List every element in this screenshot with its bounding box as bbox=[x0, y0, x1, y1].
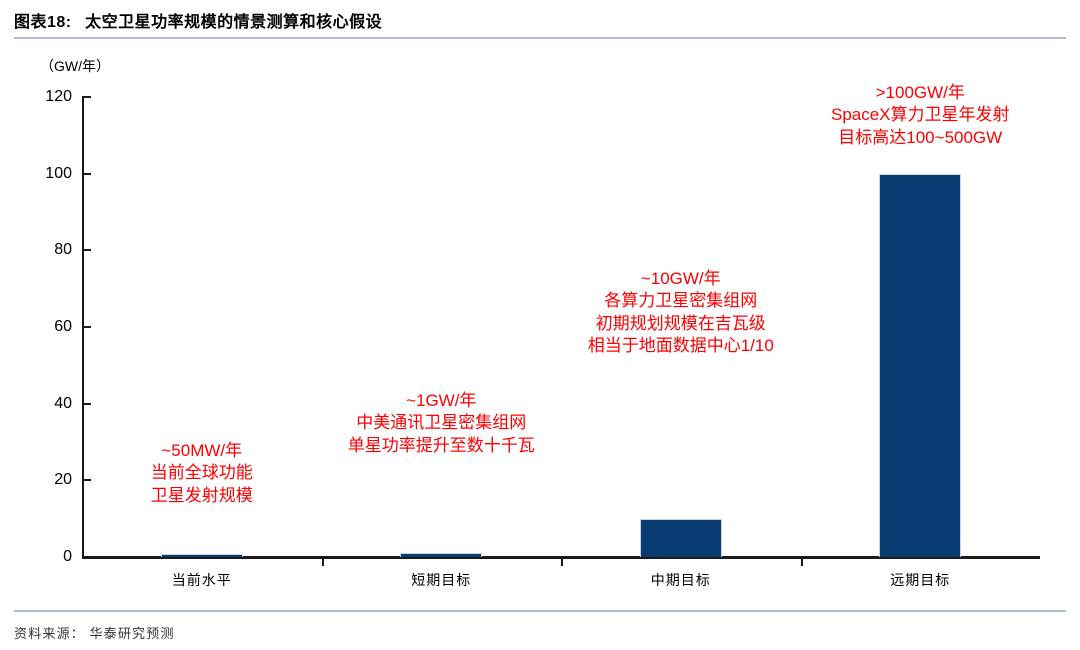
footer-divider bbox=[14, 610, 1066, 612]
annotation-短期目标: ~1GW/年中美通讯卫星密集组网单星功率提升至数十千瓦 bbox=[348, 390, 535, 457]
annotation-headline: >100GW/年 bbox=[831, 82, 1010, 104]
y-axis-tick bbox=[82, 249, 91, 251]
x-axis-category-label: 中期目标 bbox=[651, 570, 711, 590]
x-axis-category-label: 短期目标 bbox=[411, 570, 471, 590]
annotation-line: 中美通讯卫星密集组网 bbox=[348, 412, 535, 434]
source-note: 资料来源： 华泰研究预测 bbox=[14, 623, 1066, 642]
annotation-line: SpaceX算力卫星年发射 bbox=[831, 104, 1010, 126]
bar-远期目标 bbox=[879, 174, 961, 557]
x-axis-category-label: 远期目标 bbox=[890, 570, 950, 590]
annotation-headline: ~50MW/年 bbox=[151, 440, 253, 462]
bar-当前水平 bbox=[161, 554, 243, 557]
page-title: 图表18: 太空卫星功率规模的情景测算和核心假设 bbox=[14, 8, 1066, 32]
header-divider bbox=[14, 37, 1066, 39]
chart-plot-area: 020406080100120 ~50MW/年当前全球功能卫星发射规模~1GW/… bbox=[0, 0, 1080, 650]
annotation-headline: ~10GW/年 bbox=[588, 268, 774, 290]
y-axis-tick-label: 80 bbox=[0, 241, 72, 259]
annotation-line: 初期规划规模在吉瓦级 bbox=[588, 313, 774, 335]
y-axis-line bbox=[82, 97, 84, 558]
annotation-headline: ~1GW/年 bbox=[348, 390, 535, 412]
y-axis-unit-label: （GW/年） bbox=[40, 56, 110, 76]
annotation-远期目标: >100GW/年SpaceX算力卫星年发射目标高达100~500GW bbox=[831, 82, 1010, 149]
x-axis-line bbox=[82, 556, 1040, 559]
figure-number: 图表18: bbox=[14, 14, 72, 31]
y-axis-tick-label: 0 bbox=[0, 548, 72, 566]
figure-header: 图表18: 太空卫星功率规模的情景测算和核心假设 bbox=[14, 8, 1066, 39]
y-axis-tick bbox=[82, 326, 91, 328]
bar-中期目标 bbox=[640, 519, 722, 557]
y-axis-tick bbox=[82, 173, 91, 175]
annotation-line: 卫星发射规模 bbox=[151, 485, 253, 507]
x-axis-category-label: 当前水平 bbox=[172, 570, 232, 590]
annotation-line: 目标高达100~500GW bbox=[831, 127, 1010, 149]
figure-title-text: 太空卫星功率规模的情景测算和核心假设 bbox=[85, 14, 382, 31]
y-axis-tick bbox=[82, 479, 91, 481]
annotation-line: 单星功率提升至数十千瓦 bbox=[348, 435, 535, 457]
annotation-当前水平: ~50MW/年当前全球功能卫星发射规模 bbox=[151, 440, 253, 507]
figure-footer: 资料来源： 华泰研究预测 bbox=[14, 610, 1066, 642]
y-axis-tick bbox=[82, 403, 91, 405]
y-axis-tick-label: 20 bbox=[0, 471, 72, 489]
x-axis-tick bbox=[322, 556, 324, 566]
x-axis-tick bbox=[561, 556, 563, 566]
annotation-line: 当前全球功能 bbox=[151, 462, 253, 484]
y-axis-tick-label: 60 bbox=[0, 318, 72, 336]
y-axis-tick-label: 40 bbox=[0, 395, 72, 413]
y-axis-tick bbox=[82, 96, 91, 98]
figure-container: 图表18: 太空卫星功率规模的情景测算和核心假设 （GW/年） 02040608… bbox=[0, 0, 1080, 650]
y-axis-tick-label: 100 bbox=[0, 165, 72, 183]
annotation-line: 各算力卫星密集组网 bbox=[588, 290, 774, 312]
x-axis-tick bbox=[801, 556, 803, 566]
annotation-中期目标: ~10GW/年各算力卫星密集组网初期规划规模在吉瓦级相当于地面数据中心1/10 bbox=[588, 268, 774, 358]
annotation-line: 相当于地面数据中心1/10 bbox=[588, 335, 774, 357]
bar-短期目标 bbox=[400, 553, 482, 557]
y-axis-tick bbox=[82, 556, 91, 558]
y-axis-tick-label: 120 bbox=[0, 88, 72, 106]
